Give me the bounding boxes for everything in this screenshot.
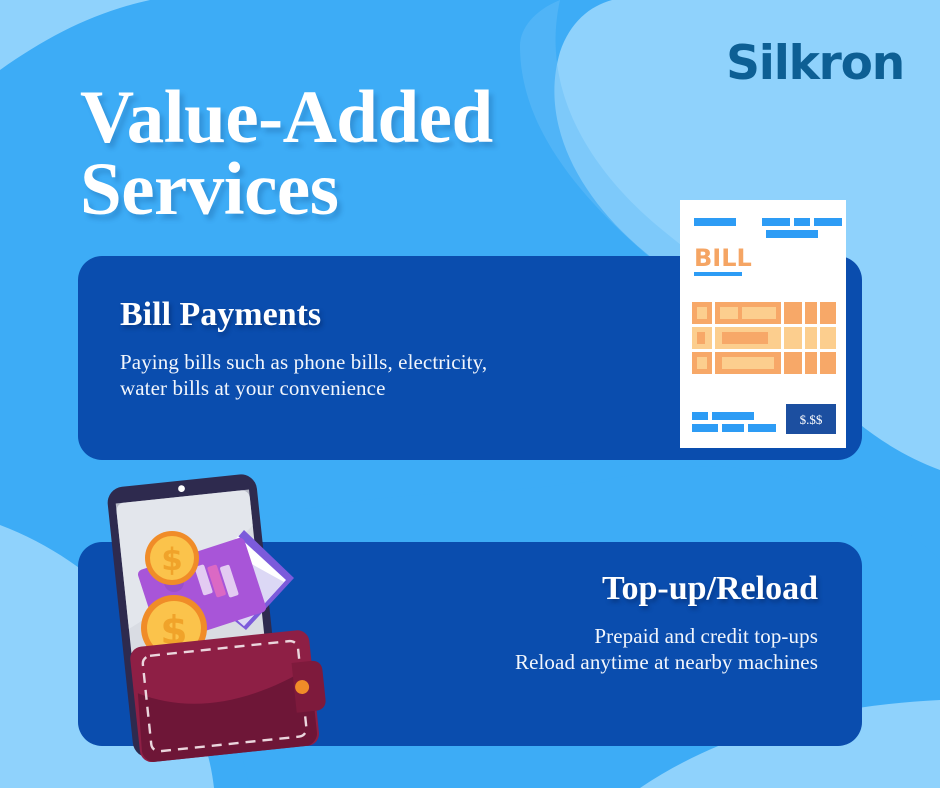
- coin-upper: $: [145, 531, 199, 585]
- bill-heading-underline: [694, 272, 742, 276]
- bill-header-line: [794, 218, 810, 226]
- card-bill-payments-body-line-2: water bills at your convenience: [120, 376, 487, 402]
- bill-header-line: [762, 218, 790, 226]
- coin-dollar-symbol: $: [161, 542, 183, 578]
- bill-footer-line: [748, 424, 776, 432]
- bill-row-cell: [697, 332, 705, 344]
- bill-row-cell: [784, 327, 802, 349]
- bill-footer-line: [722, 424, 744, 432]
- bill-row-cell: [820, 352, 836, 374]
- bill-footer-line: [692, 424, 718, 432]
- bill-row-cell: [784, 352, 802, 374]
- brand-logo: Silkron: [726, 40, 904, 87]
- bill-footer-line: [712, 412, 754, 420]
- page-title: Value-Added Services: [80, 82, 680, 225]
- bill-row-cell: [805, 302, 817, 324]
- bill-row-cell: [805, 327, 817, 349]
- card-bill-payments-body-line-1: Paying bills such as phone bills, electr…: [120, 350, 487, 376]
- bill-row-cell: [697, 307, 707, 319]
- card-top-up-reload-body-line-2: Reload anytime at nearby machines: [515, 650, 818, 676]
- phone-wallet-illustration: $ $: [98, 470, 328, 762]
- bill-row-cell: [742, 307, 776, 319]
- poster-canvas: Silkron Value-Added Services Bill Paymen…: [0, 0, 940, 788]
- bill-heading-text: BILL: [694, 244, 752, 272]
- card-bill-payments-title: Bill Payments: [120, 296, 321, 333]
- page-title-line-2: Services: [80, 154, 680, 225]
- card-top-up-reload-title: Top-up/Reload: [602, 570, 818, 607]
- wallet: [129, 628, 328, 762]
- bill-row-cell: [722, 357, 774, 369]
- bill-row-cell: [697, 357, 707, 369]
- bill-row-cell: [720, 307, 738, 319]
- bill-header-line: [694, 218, 736, 226]
- bill-row-cell: [820, 302, 836, 324]
- bill-amount-text: $.$$: [800, 412, 823, 427]
- bill-row-cell: [805, 352, 817, 374]
- bill-row-cell: [722, 332, 768, 344]
- bill-row-cell: [820, 327, 836, 349]
- card-bill-payments-body: Paying bills such as phone bills, electr…: [120, 350, 487, 401]
- bill-document-illustration: BILL: [676, 196, 852, 452]
- bill-footer-line: [692, 412, 708, 420]
- card-top-up-reload-body-line-1: Prepaid and credit top-ups: [515, 624, 818, 650]
- bill-row-cell: [784, 302, 802, 324]
- card-top-up-reload-body: Prepaid and credit top-ups Reload anytim…: [515, 624, 818, 675]
- bill-header-line: [814, 218, 842, 226]
- bill-header-line: [766, 230, 818, 238]
- page-title-line-1: Value-Added: [80, 82, 680, 153]
